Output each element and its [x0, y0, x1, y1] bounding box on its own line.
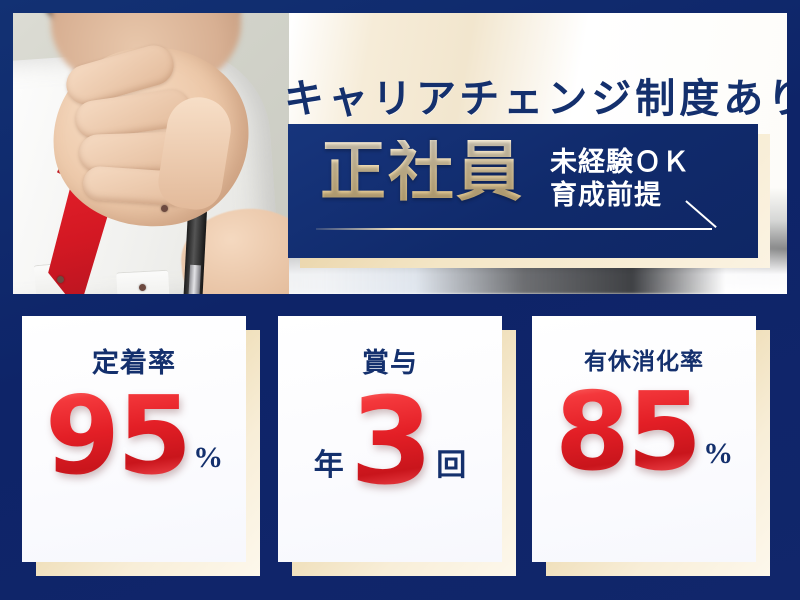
card-surface: 賞与 年 3 回	[278, 316, 502, 562]
stat-card-retention: 定着率 95 %	[22, 316, 246, 562]
card-value-unit: %	[703, 437, 733, 471]
card-value-number: 3	[350, 383, 431, 503]
card-value-unit: 回	[436, 440, 466, 484]
card-value-unit: %	[193, 441, 223, 475]
stat-card-paid-leave: 有休消化率 85 %	[532, 316, 756, 562]
card-value-group: 85 %	[532, 379, 756, 487]
recruitment-banner: キャリアチェンジ制度あり 正社員 未経験ＯＫ 育成前提 定着率 95 %	[0, 0, 800, 600]
card-value-prefix: 年	[314, 440, 344, 484]
stat-card-bonus: 賞与 年 3 回	[278, 316, 502, 562]
card-value-number: 85	[555, 379, 699, 487]
card-value-group: 95 %	[22, 383, 246, 491]
card-surface: 定着率 95 %	[22, 316, 246, 562]
card-value-group: 年 3 回	[278, 383, 502, 503]
card-title: 定着率	[92, 350, 176, 377]
card-value-number: 95	[45, 383, 189, 491]
card-surface: 有休消化率 85 %	[532, 316, 756, 562]
stat-cards-row: 定着率 95 % 賞与 年 3 回 有休消化率	[0, 0, 800, 600]
